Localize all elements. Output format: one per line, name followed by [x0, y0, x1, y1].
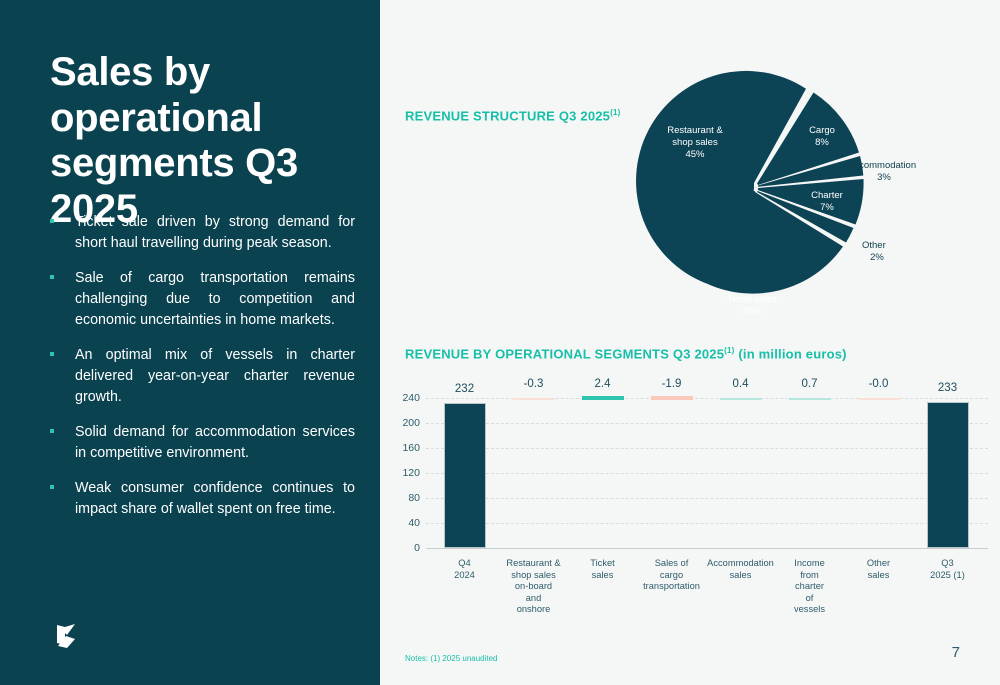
x-axis-category-line: sales [563, 570, 643, 582]
x-axis-category-line: 2024 [425, 570, 505, 582]
bar-chart-title: REVENUE BY OPERATIONAL SEGMENTS Q3 2025(… [405, 346, 847, 361]
x-axis-category-line: Restaurant & [494, 558, 574, 570]
bar-value-label: 0.7 [802, 378, 818, 390]
list-item: Ticket sale driven by strong demand for … [50, 212, 355, 254]
x-axis-category-line: shop sales [494, 570, 574, 582]
bar-delta[interactable] [513, 398, 555, 400]
axis-baseline [426, 548, 988, 549]
bar-chart: 04080120160200240 232-0.32.4-1.90.40.7-0… [390, 380, 990, 630]
bar-total[interactable] [444, 403, 486, 548]
left-panel: Sales by operational segments Q3 2025 Ti… [0, 0, 380, 685]
bar-value-label: 0.4 [733, 378, 749, 390]
x-axis-category-label: Sales ofcargotransportation [632, 558, 712, 593]
page-number: 7 [952, 644, 960, 661]
bullet-text: Weak consumer confidence continues to im… [75, 478, 355, 520]
bar-delta[interactable] [789, 398, 831, 400]
pie-label-line1: Other [862, 240, 902, 252]
bullet-list: Ticket sale driven by strong demand for … [50, 212, 355, 534]
slide: Sales by operational segments Q3 2025 Ti… [0, 0, 1000, 685]
x-axis-category-line: Sales of [632, 558, 712, 570]
bar-value-label: 233 [938, 382, 957, 394]
pie-label-value: 8% [796, 137, 848, 149]
bar-delta[interactable] [582, 396, 624, 400]
bullet-text: Ticket sale driven by strong demand for … [75, 212, 355, 254]
x-axis-category-line: Income [770, 558, 850, 570]
y-axis-tick-label: 240 [390, 392, 420, 404]
pie-label-line2: shop sales [652, 137, 738, 149]
company-logo-icon [46, 615, 86, 655]
pie-label-line1: Ticket sales [712, 294, 792, 306]
y-axis-tick-label: 200 [390, 417, 420, 429]
x-axis-category-line: Q4 [425, 558, 505, 570]
x-axis-category-line: of [770, 593, 850, 605]
bullet-text: An optimal mix of vessels in charter del… [75, 345, 355, 408]
x-axis-category-line: onshore [494, 604, 574, 616]
pie-chart-title: REVENUE STRUCTURE Q3 2025(1) [405, 108, 621, 123]
pie-chart-title-text: REVENUE STRUCTURE Q3 2025 [405, 108, 610, 123]
x-axis-category-line: Q3 [908, 558, 988, 570]
pie-label-value: 3% [848, 172, 920, 184]
y-axis-tick-label: 0 [390, 542, 420, 554]
y-axis-tick-label: 80 [390, 492, 420, 504]
pie-label-value: 45% [652, 149, 738, 161]
pie-label-other: Other 2% [862, 240, 902, 264]
list-item: Solid demand for accommodation services … [50, 422, 355, 464]
grid-line [426, 498, 988, 499]
footnote-notes: Notes: (1) 2025 unaudited [405, 654, 498, 663]
bar-delta[interactable] [720, 398, 762, 400]
x-axis-category-line: vessels [770, 604, 850, 616]
bullet-marker-icon [50, 422, 60, 464]
pie-label-accommodation: Accommodation 3% [848, 160, 928, 184]
bullet-marker-icon [50, 212, 60, 254]
bar-chart-title-text: REVENUE BY OPERATIONAL SEGMENTS Q3 2025 [405, 346, 724, 361]
x-axis-category-label: Q32025 (1) [908, 558, 988, 581]
pie-label-value: 2% [862, 252, 892, 264]
x-axis-category-label: Accommodationsales [701, 558, 781, 581]
x-axis-category-line: sales [839, 570, 919, 582]
list-item: Sale of cargo transportation remains cha… [50, 268, 355, 331]
x-axis-category-line: Ticket [563, 558, 643, 570]
bullet-text: Sale of cargo transportation remains cha… [75, 268, 355, 331]
x-axis-category-label: Ticketsales [563, 558, 643, 581]
bullet-text: Solid demand for accommodation services … [75, 422, 355, 464]
bullet-marker-icon [50, 345, 60, 408]
right-panel: REVENUE STRUCTURE Q3 2025(1) [380, 0, 1000, 685]
x-axis-category-label: Q42024 [425, 558, 505, 581]
x-axis-category-label: Restaurant &shop saleson-boardandonshore [494, 558, 574, 616]
pie-label-ticket-sales: Ticket sales 35% [712, 294, 792, 318]
y-axis-tick-label: 160 [390, 442, 420, 454]
x-axis-category-line: sales [701, 570, 781, 582]
bar-value-label: -1.9 [662, 378, 682, 390]
bar-delta[interactable] [858, 398, 900, 400]
pie-label-value: 7% [802, 202, 852, 214]
x-axis-category-line: and [494, 593, 574, 605]
x-axis-category-line: charter [770, 581, 850, 593]
grid-line [426, 448, 988, 449]
pie-label-line1: Charter [802, 190, 852, 202]
bullet-marker-icon [50, 478, 60, 520]
pie-chart-svg [630, 40, 880, 330]
grid-line [426, 423, 988, 424]
x-axis-category-line: Accommodation [701, 558, 781, 570]
x-axis-category-line: Other [839, 558, 919, 570]
pie-label-line1: Restaurant & [652, 125, 738, 137]
list-item: An optimal mix of vessels in charter del… [50, 345, 355, 408]
bar-value-label: -0.0 [869, 378, 889, 390]
x-axis-category-line: on-board [494, 581, 574, 593]
bar-chart-title-footnote: (1) [724, 346, 734, 355]
bar-chart-title-unit: (in million euros) [738, 346, 846, 361]
pie-chart-title-footnote: (1) [610, 108, 620, 117]
x-axis-category-line: from [770, 570, 850, 582]
list-item: Weak consumer confidence continues to im… [50, 478, 355, 520]
x-axis-category-line: cargo [632, 570, 712, 582]
x-axis-category-line: transportation [632, 581, 712, 593]
grid-line [426, 398, 988, 399]
y-axis-tick-label: 40 [390, 517, 420, 529]
grid-line [426, 523, 988, 524]
pie-label-line1: Cargo [796, 125, 848, 137]
bar-total[interactable] [927, 402, 969, 548]
x-axis-category-line: 2025 (1) [908, 570, 988, 582]
x-axis-category-label: Othersales [839, 558, 919, 581]
x-axis-category-label: Incomefromcharterofvessels [770, 558, 850, 616]
bullet-marker-icon [50, 268, 60, 331]
page-title: Sales by operational segments Q3 2025 [50, 50, 370, 232]
y-axis-tick-label: 120 [390, 467, 420, 479]
bar-value-label: 232 [455, 383, 474, 395]
pie-label-restaurant-shop-sales: Restaurant & shop sales 45% [652, 125, 738, 161]
pie-label-cargo: Cargo 8% [796, 125, 848, 149]
pie-label-charter: Charter 7% [802, 190, 852, 214]
pie-chart: Restaurant & shop sales 45% Cargo 8% Acc… [630, 40, 880, 330]
bar-value-label: 2.4 [595, 378, 611, 390]
pie-label-value: 35% [712, 306, 792, 318]
pie-label-line1: Accommodation [848, 160, 928, 172]
bar-value-label: -0.3 [524, 378, 544, 390]
grid-line [426, 473, 988, 474]
bar-delta[interactable] [651, 396, 693, 400]
